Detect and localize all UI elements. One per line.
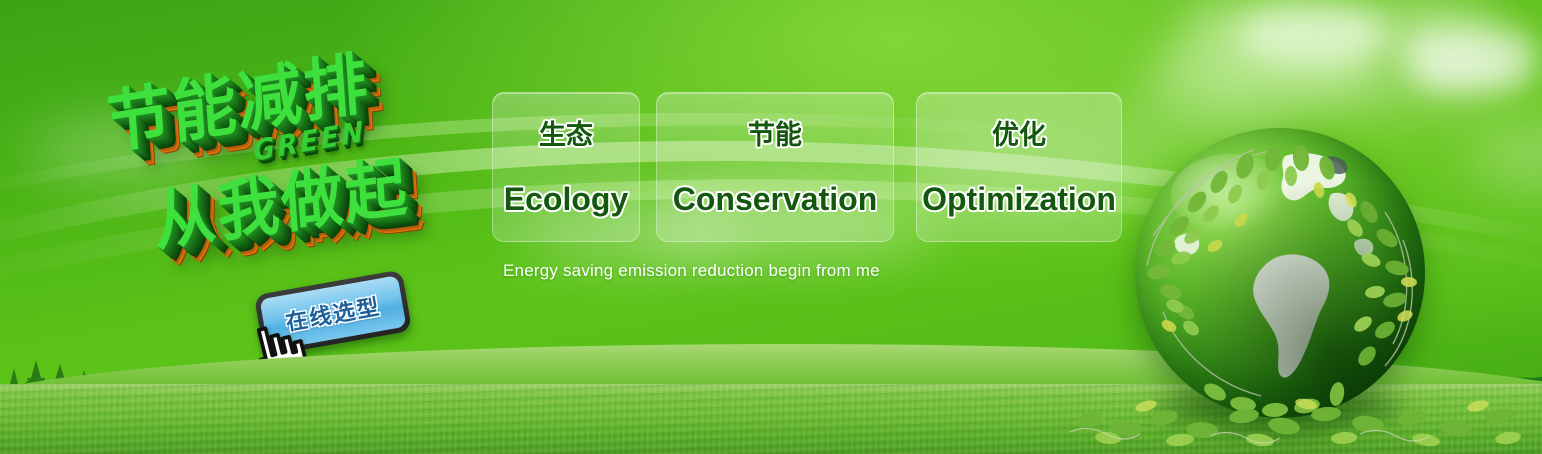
leaf-vine-overlay — [1123, 116, 1437, 430]
feature-card-cn-label: 优化 — [992, 122, 1046, 149]
green-earth-globe — [1135, 128, 1425, 418]
feature-card-en-label: Ecology — [504, 183, 628, 215]
banner-tagline: Energy saving emission reduction begin f… — [503, 261, 880, 281]
logo-3d-text: 节能减排 GREEN 从我做起 — [88, 26, 503, 288]
feature-card-conservation[interactable]: 节能 Conservation — [656, 92, 894, 242]
feature-card-cn-label: 生态 — [539, 122, 593, 149]
feature-card-ecology[interactable]: 生态 Ecology — [492, 92, 640, 242]
feature-card-cn-label: 节能 — [748, 122, 802, 149]
feature-card-en-label: Conservation — [673, 183, 877, 215]
feature-card-optimization[interactable]: 优化 Optimization — [916, 92, 1122, 242]
feature-card-en-label: Optimization — [922, 183, 1116, 215]
banner-root: 节能减排 GREEN 从我做起 生态 Ecology 节能 Conservati… — [0, 0, 1542, 454]
